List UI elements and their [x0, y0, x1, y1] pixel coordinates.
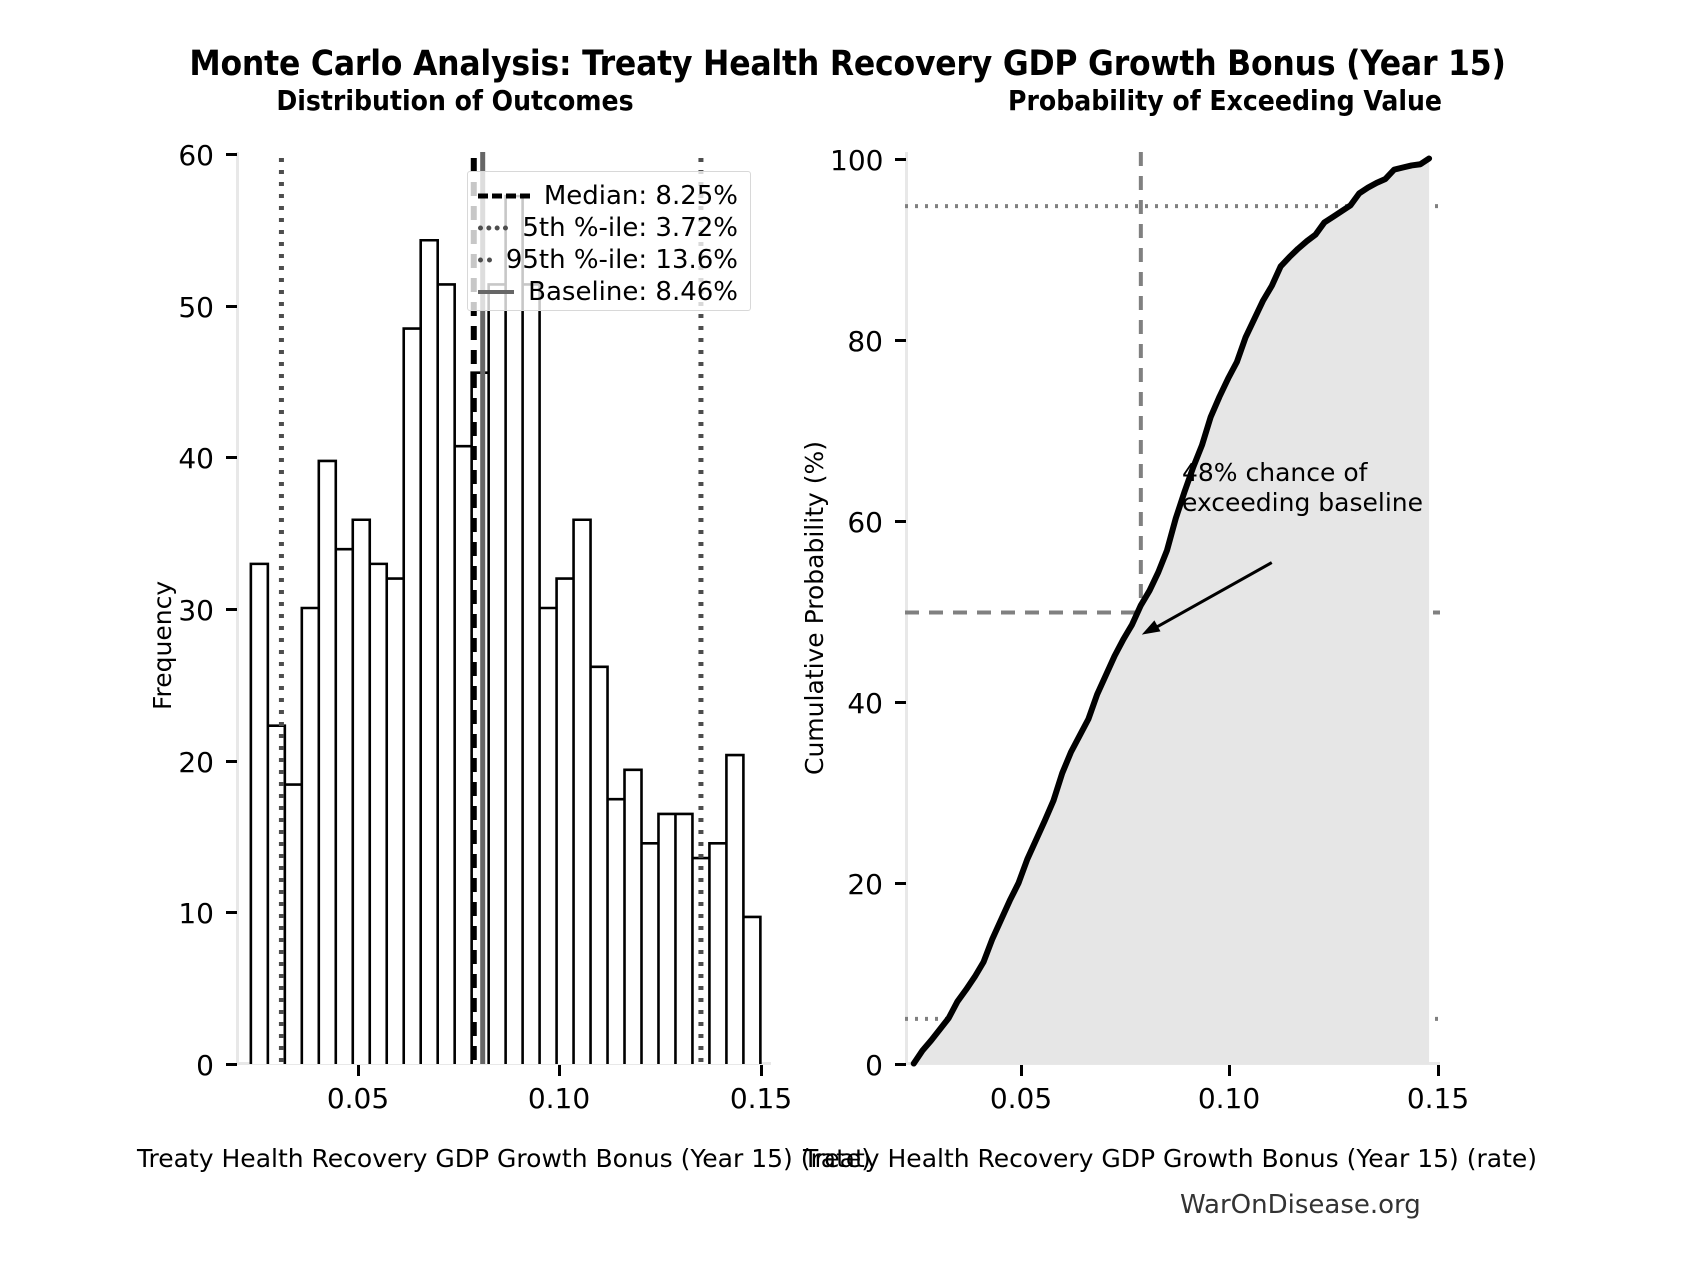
- right-panel-ylabel: Cumulative Probability (%): [800, 441, 829, 775]
- right-y-ticklabel-20: 20: [830, 868, 883, 901]
- right-y-ticklabel-80: 80: [830, 325, 883, 358]
- right-y-ticklabel-0: 0: [830, 1049, 883, 1082]
- right-y-ticklabel-40: 40: [830, 687, 883, 720]
- cdf-annotation-line2: exceeding baseline: [1182, 488, 1423, 518]
- right-x-tick-010: [1228, 1065, 1231, 1076]
- right-x-ticklabel-015: 0.15: [1378, 1082, 1498, 1115]
- figure-footer: WarOnDisease.org: [1180, 1190, 1421, 1220]
- right-y-ticklabel-100: 100: [830, 144, 883, 177]
- cdf-plot: [905, 152, 1440, 1064]
- right-x-tick-015: [1437, 1065, 1440, 1076]
- right-x-tick-005: [1020, 1065, 1023, 1076]
- cdf-annotation: 48% chance of exceeding baseline: [1182, 458, 1423, 517]
- figure-canvas: Monte Carlo Analysis: Treaty Health Reco…: [0, 0, 1695, 1280]
- right-panel-axes: 0 20 40 60 80 100 0.05 0.10 0.15 48% cha…: [0, 0, 1695, 1110]
- right-panel-xlabel: Treaty Health Recovery GDP Growth Bonus …: [770, 1144, 1570, 1173]
- right-y-ticklabel-60: 60: [830, 506, 883, 539]
- right-x-ticklabel-005: 0.05: [961, 1082, 1081, 1115]
- cdf-annotation-line1: 48% chance of: [1182, 458, 1423, 488]
- right-x-ticklabel-010: 0.10: [1169, 1082, 1289, 1115]
